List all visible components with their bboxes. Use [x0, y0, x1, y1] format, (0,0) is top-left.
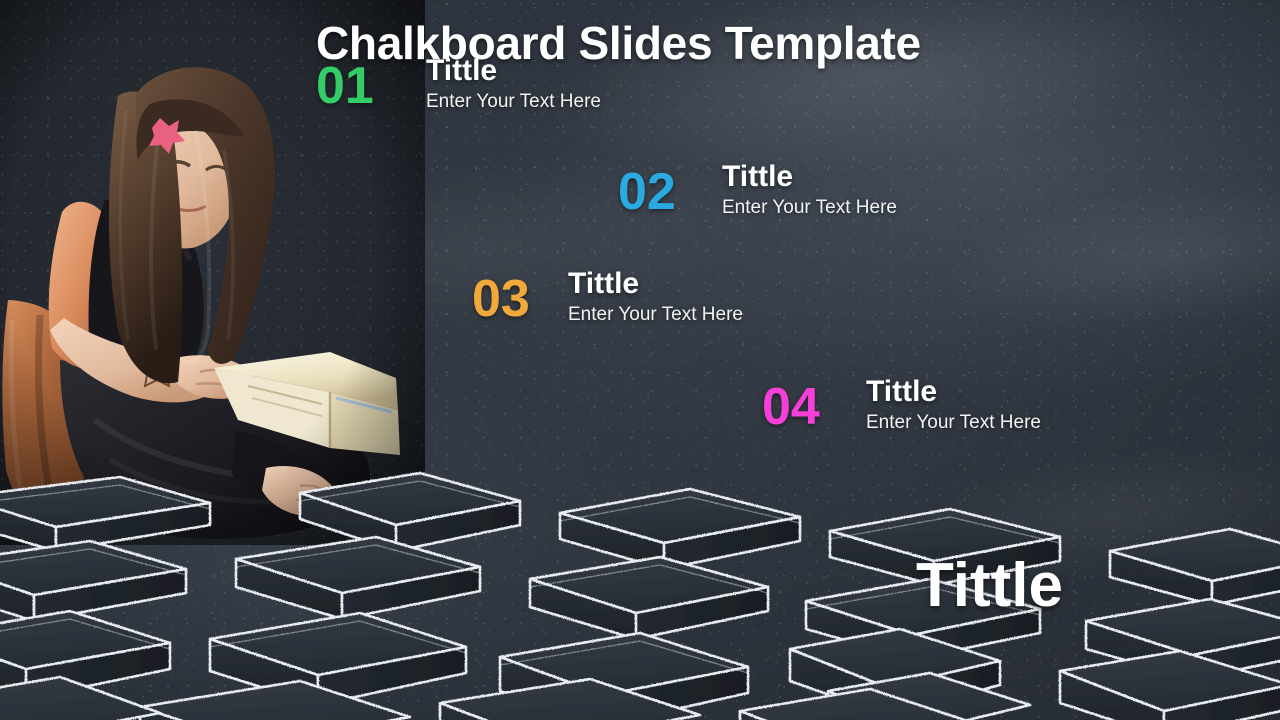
item-subtitle-03: Enter Your Text Here — [568, 305, 743, 324]
item-title-01: Tittle — [426, 56, 497, 86]
item-subtitle-01: Enter Your Text Here — [426, 92, 601, 111]
item-title-04: Tittle — [866, 377, 937, 407]
item-title-02: Tittle — [722, 162, 793, 192]
slide-canvas: Chalkboard Slides Template 01 Tittle Ent… — [0, 0, 1280, 720]
item-title-03: Tittle — [568, 269, 639, 299]
chalk-staircase-graphic — [0, 455, 1280, 720]
bottom-title: Tittle — [916, 555, 1063, 617]
item-number-02: 02 — [618, 166, 676, 218]
item-subtitle-04: Enter Your Text Here — [866, 413, 1041, 432]
item-number-03: 03 — [472, 273, 530, 325]
page-title: Chalkboard Slides Template — [316, 16, 921, 70]
item-number-01: 01 — [316, 60, 374, 112]
item-number-04: 04 — [762, 381, 820, 433]
item-subtitle-02: Enter Your Text Here — [722, 198, 897, 217]
